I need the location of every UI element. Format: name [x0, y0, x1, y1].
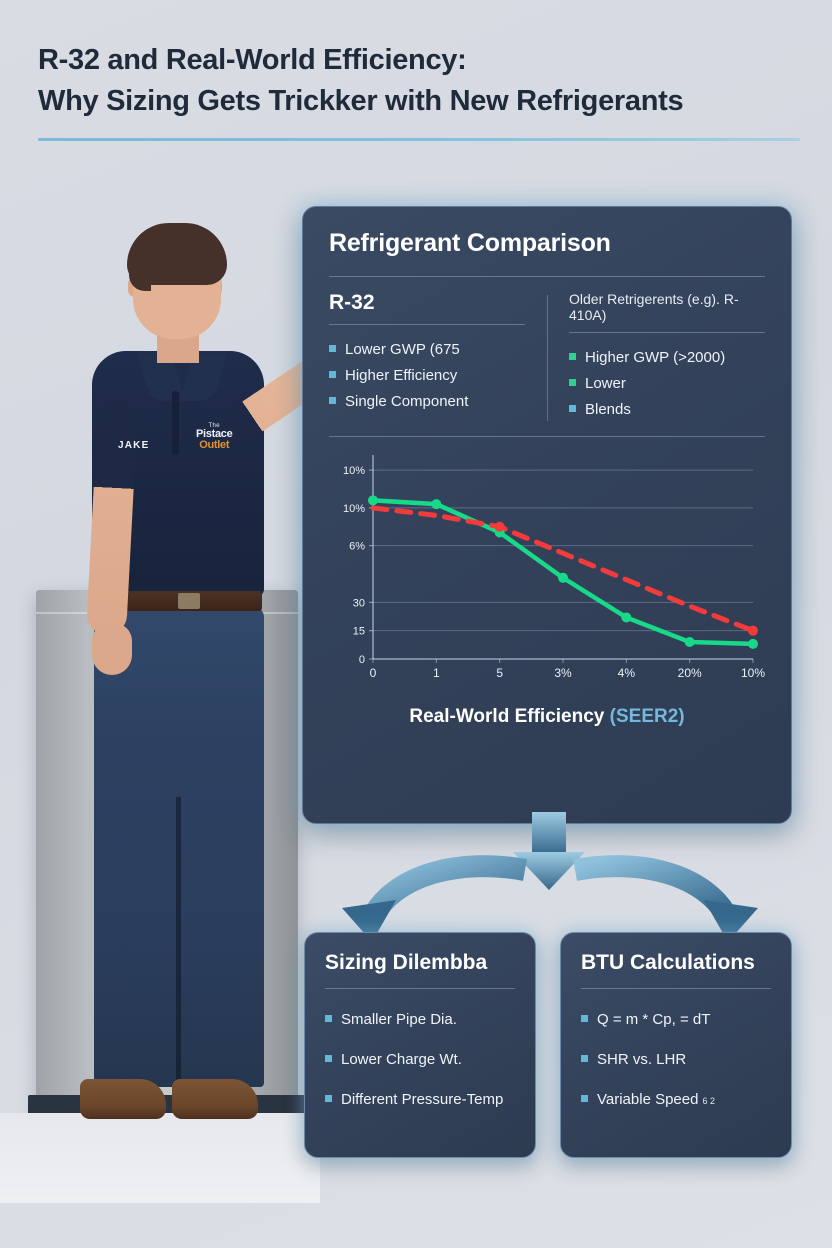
- comparison-column-r32: R-32 Lower GWP (675 Higher Efficiency Si…: [329, 291, 543, 422]
- chart-data-point: [621, 613, 631, 623]
- x-axis-tick-label: 4%: [618, 666, 636, 680]
- comparison-column-older-refrigerants: Older Retrigerents (e.g). R-410A) Higher…: [543, 291, 765, 422]
- column-heading-rule-left: [329, 324, 525, 325]
- card-title: BTU Calculations: [581, 951, 771, 975]
- bullet-square-icon: [581, 1055, 588, 1062]
- chart-data-point: [748, 626, 758, 636]
- list-item: Lower GWP (675: [329, 337, 525, 363]
- list-item: SHR vs. LHR: [581, 1049, 771, 1071]
- bullet-square-icon: [581, 1015, 588, 1022]
- bullet-square-icon: [325, 1015, 332, 1022]
- list-item-label: Q = m * Cp, = dT: [597, 1009, 710, 1031]
- older-refrigerant-feature-list: Higher GWP (>2000) Lower Blends: [569, 345, 765, 422]
- y-axis-tick-label: 10%: [343, 466, 365, 478]
- y-axis-tick-label: 0: [359, 654, 365, 666]
- card-title: Sizing Dilembba: [325, 951, 515, 975]
- x-axis-tick-label: 20%: [678, 666, 702, 680]
- y-axis-tick-label: 30: [353, 598, 365, 610]
- bullet-square-icon: [325, 1095, 332, 1102]
- chart-svg: 015306%10%10%0153%4%20%10%: [329, 445, 767, 695]
- chart-caption: Real-World Efficiency (SEER2): [329, 706, 765, 728]
- list-item-label: Higher GWP (>2000): [585, 345, 725, 371]
- y-axis-tick-label: 6%: [349, 541, 365, 553]
- column-heading-older: Older Retrigerents (e.g). R-410A): [569, 291, 765, 323]
- down-arrow-icon: [513, 812, 585, 890]
- chart-caption-main: Real-World Efficiency: [409, 706, 609, 727]
- x-axis-tick-label: 0: [370, 666, 377, 680]
- technician-shoe-left: [80, 1079, 166, 1119]
- list-item-label: Smaller Pipe Dia.: [341, 1009, 457, 1031]
- sizing-dilemma-card: Sizing Dilembba Smaller Pipe Dia. Lower …: [304, 932, 536, 1158]
- bullet-square-icon: [569, 353, 576, 360]
- chart-series-line: [373, 508, 753, 631]
- bullet-square-icon: [325, 1055, 332, 1062]
- polo-placket: [172, 391, 179, 455]
- list-item: Higher Efficiency: [329, 363, 525, 389]
- x-axis-tick-label: 5: [496, 666, 503, 680]
- list-item: Q = m * Cp, = dT: [581, 1009, 771, 1031]
- page-title-line-2: Why Sizing Gets Trickker with New Refrig…: [38, 81, 798, 122]
- chart-series-line: [373, 501, 753, 645]
- shirt-name-tag: JAKE: [118, 440, 149, 451]
- x-axis-tick-label: 3%: [554, 666, 572, 680]
- list-item-label: Variable Speed: [597, 1089, 698, 1111]
- technician-photo: JAKE The Pistace Outlet: [0, 195, 320, 1195]
- technician-figure: JAKE The Pistace Outlet: [0, 195, 320, 1195]
- belt-buckle: [178, 593, 200, 609]
- chart-data-point: [368, 496, 378, 506]
- technician-hair: [127, 223, 227, 285]
- chart-data-point: [748, 639, 758, 649]
- refrigerant-comparison-panel: Refrigerant Comparison R-32 Lower GWP (6…: [302, 206, 792, 824]
- chart-data-point: [431, 500, 441, 510]
- list-item: Single Component: [329, 389, 525, 415]
- column-heading-rule-right: [569, 332, 765, 333]
- title-underline-rule: [38, 138, 800, 141]
- column-heading-r32: R-32: [329, 291, 525, 315]
- chart-data-point: [558, 573, 568, 583]
- bullet-square-icon: [581, 1095, 588, 1102]
- card-title-rule: [581, 988, 771, 989]
- list-item-label: Blends: [585, 397, 631, 423]
- bullet-square-icon: [329, 345, 336, 352]
- bullet-square-icon: [329, 397, 336, 404]
- bullet-square-icon: [569, 379, 576, 386]
- list-item-label: Higher Efficiency: [345, 363, 457, 389]
- list-item-label: Different Pressure-Temp: [341, 1089, 503, 1111]
- comparison-columns: R-32 Lower GWP (675 Higher Efficiency Si…: [329, 291, 765, 422]
- list-item-label: SHR vs. LHR: [597, 1049, 686, 1071]
- list-item: Higher GWP (>2000): [569, 345, 765, 371]
- x-axis-tick-label: 10%: [741, 666, 765, 680]
- chart-data-point: [495, 522, 505, 532]
- sizing-dilemma-list: Smaller Pipe Dia. Lower Charge Wt. Diffe…: [325, 1009, 515, 1110]
- list-item-label: Lower: [585, 371, 626, 397]
- chart-data-point: [685, 637, 695, 647]
- efficiency-line-chart: 015306%10%10%0153%4%20%10%: [329, 445, 765, 700]
- list-item: Lower: [569, 371, 765, 397]
- page-header: R-32 and Real-World Efficiency: Why Sizi…: [38, 40, 798, 141]
- list-item: Lower Charge Wt.: [325, 1049, 515, 1071]
- shirt-logo: The Pistace Outlet: [196, 423, 232, 451]
- page-title-line-1: R-32 and Real-World Efficiency:: [38, 40, 798, 81]
- column-divider: [547, 295, 548, 421]
- list-item: Different Pressure-Temp: [325, 1089, 515, 1111]
- curved-arrow-left-icon: [342, 866, 525, 942]
- bullet-square-icon: [329, 371, 336, 378]
- list-item: Blends: [569, 397, 765, 423]
- list-item-label: Single Component: [345, 389, 468, 415]
- curved-arrow-right-icon: [575, 866, 758, 942]
- list-item: Smaller Pipe Dia.: [325, 1009, 515, 1031]
- superscript-label: 6 2: [702, 1095, 715, 1108]
- technician-hand-left: [92, 623, 132, 675]
- chart-separator-rule: [329, 436, 765, 437]
- list-item: Variable Speed 6 2: [581, 1089, 771, 1111]
- panel-title-rule: [329, 276, 765, 277]
- arrows-svg: [300, 812, 800, 942]
- bullet-square-icon: [569, 405, 576, 412]
- list-item-label: Lower Charge Wt.: [341, 1049, 462, 1071]
- btu-calculations-list: Q = m * Cp, = dT SHR vs. LHR Variable Sp…: [581, 1009, 771, 1110]
- shirt-logo-line-3: Outlet: [196, 440, 232, 451]
- panel-title: Refrigerant Comparison: [329, 229, 765, 258]
- flow-arrows: [300, 812, 800, 942]
- btu-calculations-card: BTU Calculations Q = m * Cp, = dT SHR vs…: [560, 932, 792, 1158]
- technician-jeans: [94, 607, 264, 1087]
- y-axis-tick-label: 10%: [343, 503, 365, 515]
- technician-shoe-right: [172, 1079, 258, 1119]
- chart-caption-accent: (SEER2): [610, 706, 685, 727]
- x-axis-tick-label: 1: [433, 666, 440, 680]
- r32-feature-list: Lower GWP (675 Higher Efficiency Single …: [329, 337, 525, 414]
- y-axis-tick-label: 15: [353, 626, 365, 638]
- card-title-rule: [325, 988, 515, 989]
- list-item-label: Lower GWP (675: [345, 337, 460, 363]
